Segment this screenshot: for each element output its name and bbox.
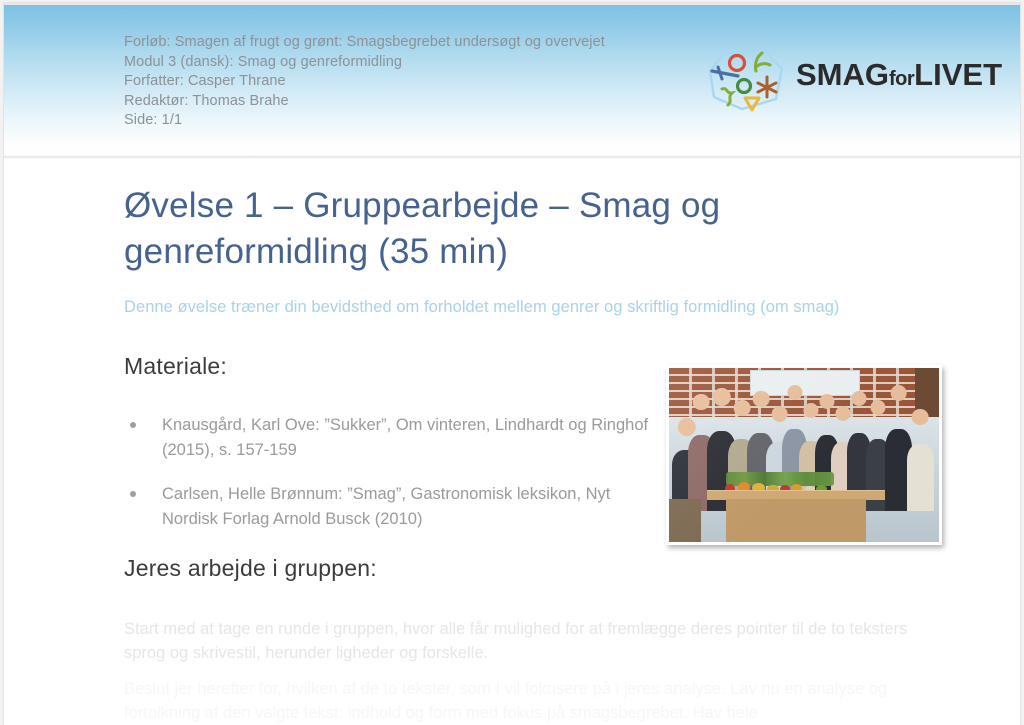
page-title: Øvelse 1 – Gruppearbejde – Smag og genre…: [124, 183, 764, 275]
document-header: Forløb: Smagen af frugt og grønt: Smagsb…: [4, 3, 1020, 155]
page-subtitle: Denne øvelse træner din bevidsthed om fo…: [124, 297, 924, 318]
smag-for-livet-logo: SMAGforLIVET: [704, 45, 952, 113]
arbejde-heading: Jeres arbejde i gruppen:: [124, 555, 377, 582]
logo-word-for: for: [889, 68, 914, 90]
materiale-list: Knausgård, Karl Ove: ”Sukker”, Om vinter…: [124, 413, 654, 551]
logo-wordmark: SMAGforLIVET: [796, 57, 1002, 93]
logo-word-livet: LIVET: [914, 57, 1002, 92]
meta-line-forlob: Forløb: Smagen af frugt og grønt: Smagsb…: [124, 33, 605, 53]
logo-mark-icon: [704, 45, 790, 113]
instruction-paragraph-1: Start med at tage en runde i gruppen, hv…: [124, 617, 914, 665]
logo-word-smag: SMAG: [796, 57, 889, 92]
document-page: Forløb: Smagen af frugt og grønt: Smagsb…: [4, 3, 1020, 725]
list-item: Carlsen, Helle Brønnum: ”Smag”, Gastrono…: [124, 482, 654, 532]
document-metadata: Forløb: Smagen af frugt og grønt: Smagsb…: [124, 33, 605, 131]
meta-line-modul: Modul 3 (dansk): Smag og genreformidling: [124, 53, 605, 73]
meta-line-redaktor: Redaktør: Thomas Brahe: [124, 92, 605, 112]
instruction-paragraph-2: Beslut jer herefter for, hvilken af de t…: [124, 677, 914, 725]
header-top-edge: [4, 3, 1020, 5]
list-item: Knausgård, Karl Ove: ”Sukker”, Om vinter…: [124, 413, 654, 463]
meta-line-forfatter: Forfatter: Casper Thrane: [124, 72, 605, 92]
class-group-photo: [666, 365, 942, 545]
photo-image: [669, 368, 939, 542]
meta-line-side: Side: 1/1: [124, 111, 605, 131]
document-body: Øvelse 1 – Gruppearbejde – Smag og genre…: [4, 159, 1020, 725]
photo-glare: [669, 368, 939, 542]
materiale-heading: Materiale:: [124, 353, 227, 380]
